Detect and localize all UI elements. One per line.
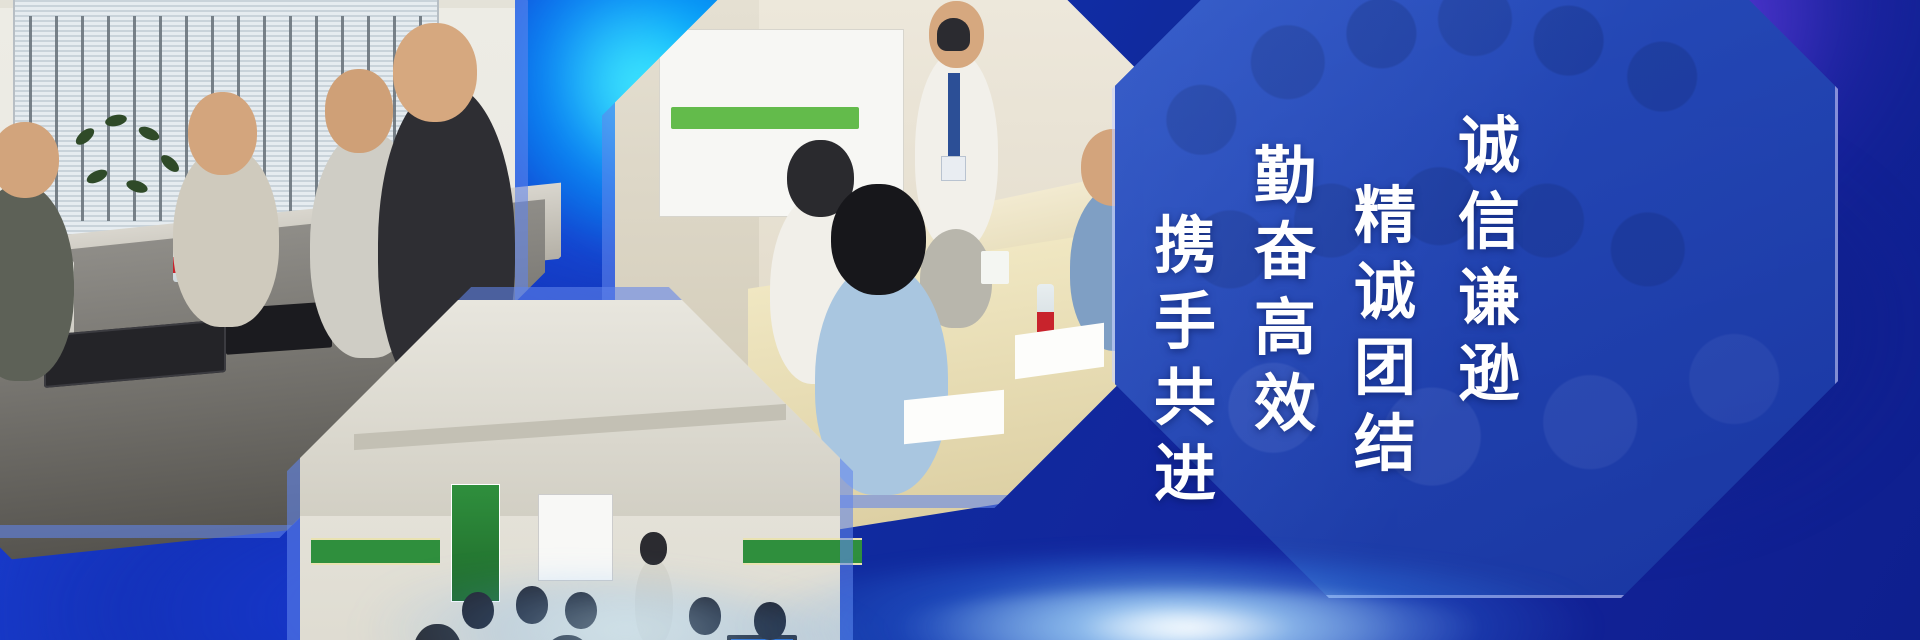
slogan-text-group: 携 手 共 进 勤 奋 高 效 精 诚 团 结 诚 信 谦 逊: [1140, 0, 1900, 640]
slogan-column-xieshou: 携 手 共 进: [1154, 210, 1216, 513]
slogan-char: 勤: [1254, 140, 1316, 216]
slogan-column-jingcheng: 精 诚 团 结: [1354, 180, 1416, 483]
slogan-char: 谦: [1458, 262, 1520, 338]
slogan-char: 效: [1254, 368, 1316, 444]
slogan-column-qinfen: 勤 奋 高 效: [1254, 140, 1316, 443]
slogan-char: 精: [1354, 180, 1416, 256]
slogan-char: 奋: [1254, 216, 1316, 292]
slogan-char: 结: [1354, 408, 1416, 484]
slogan-char: 高: [1254, 292, 1316, 368]
slogan-char: 信: [1458, 186, 1520, 262]
company-culture-banner: 携 手 共 进 勤 奋 高 效 精 诚 团 结 诚 信 谦 逊: [0, 0, 1920, 640]
slogan-char: 进: [1154, 438, 1216, 514]
slogan-char: 团: [1354, 332, 1416, 408]
slogan-char: 诚: [1354, 256, 1416, 332]
slogan-char: 手: [1154, 286, 1216, 362]
slogan-char: 逊: [1458, 338, 1520, 414]
slogan-column-chengxin: 诚 信 谦 逊: [1458, 110, 1520, 413]
slogan-char: 共: [1154, 362, 1216, 438]
slogan-char: 诚: [1458, 110, 1520, 186]
slogan-char: 携: [1154, 210, 1216, 286]
